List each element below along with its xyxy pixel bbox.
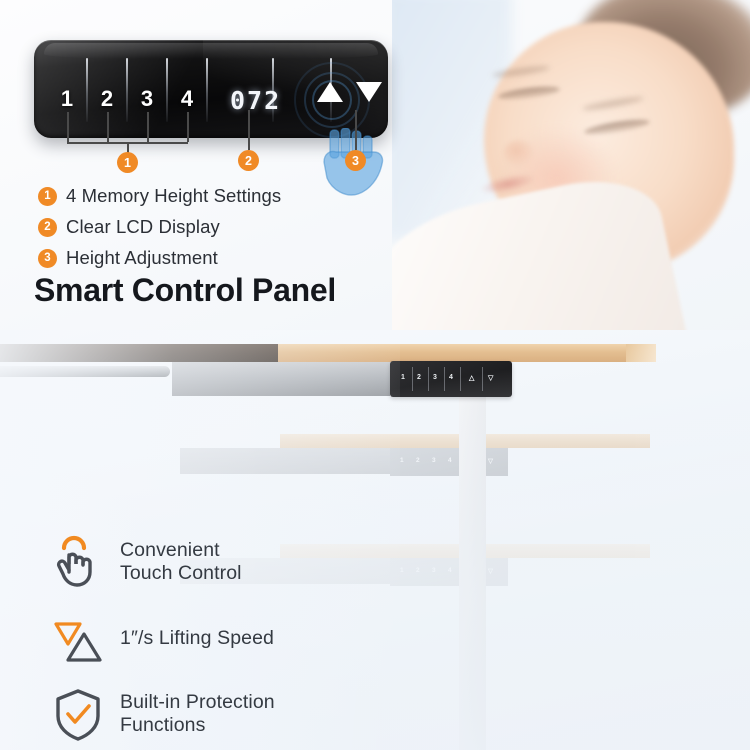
feature-line-1: 1″/s Lifting Speed [120,627,274,650]
ghost-desk-rail [180,448,390,474]
desk-memory-button-2[interactable]: 2 [417,374,421,381]
feature-row-touch-control: Convenient Touch Control [50,534,400,590]
leader-tick [147,112,149,142]
callout-legend-item: 1 4 Memory Height Settings [38,182,378,210]
panel-highlight [44,43,378,59]
memory-button-3[interactable]: 3 [134,88,160,110]
legend-label-3: Height Adjustment [66,247,218,269]
callout-badge-1: 1 [117,152,138,173]
legend-badge-1: 1 [38,187,57,206]
baby-nose [504,140,534,166]
leader-stem [355,110,357,150]
product-infographic-page: 1 2 3 4 072 1 2 3 [0,0,750,750]
button-separator [482,367,483,391]
touch-hand-icon [50,534,106,590]
ghost-memory-1: 1 [400,567,404,574]
feature-line-2: Functions [120,714,275,737]
desk-memory-button-1[interactable]: 1 [401,374,405,381]
callout-legend-list: 1 4 Memory Height Settings 2 Clear LCD D… [38,182,378,275]
bottom-feature-list: Convenient Touch Control 1″/s Lifting Sp… [50,534,400,750]
desk-down-arrow-icon[interactable]: ▽ [488,374,493,382]
leader-tick [187,112,189,142]
desk-cross-bar [0,366,170,377]
ghost-memory-2: 2 [416,567,420,574]
ghost-memory-3: 3 [432,567,436,574]
lcd-display-value: 072 [230,86,281,115]
desk-top-dark-surface [0,344,282,362]
feature-line-1: Convenient [120,539,242,562]
desk-up-arrow-icon[interactable]: △ [469,374,474,382]
legend-label-2: Clear LCD Display [66,216,220,238]
ghost-memory-2: 2 [416,457,420,464]
leader-tick [67,112,69,142]
height-down-arrow-icon[interactable] [356,82,382,102]
button-separator [206,58,208,122]
memory-button-1[interactable]: 1 [54,88,80,110]
ghost-control-panel: 1 2 3 4 ▽ [390,558,508,586]
control-panel-hero: 1 2 3 4 072 [34,40,388,138]
desk-leg [459,396,486,750]
feature-line-2: Touch Control [120,562,242,585]
leader-tick [107,112,109,142]
ghost-down-arrow-icon: ▽ [488,457,493,465]
callout-legend-item: 3 Height Adjustment [38,244,378,272]
page-title: Smart Control Panel [34,272,336,309]
button-separator [126,58,128,122]
memory-button-4[interactable]: 4 [174,88,200,110]
ghost-memory-3: 3 [432,457,436,464]
feature-label-lifting-speed: 1″/s Lifting Speed [120,627,274,650]
button-separator [86,58,88,122]
legend-label-1: 4 Memory Height Settings [66,185,281,207]
memory-button-2[interactable]: 2 [94,88,120,110]
ghost-memory-4: 4 [448,457,452,464]
desk-mounted-control-panel[interactable]: 1 2 3 4 △ ▽ [390,361,512,397]
ghost-desk-position: 1 2 3 4 ▽ [0,434,750,474]
shield-check-icon [50,686,106,742]
callout-badge-3: 3 [345,150,366,171]
leader-stem [248,110,250,150]
button-separator [428,367,429,391]
feature-label-touch-control: Convenient Touch Control [120,539,242,585]
feature-label-protection: Built-in Protection Functions [120,691,275,737]
callout-badge-2: 2 [238,150,259,171]
desk-top-edge-highlight [626,344,656,362]
legend-badge-3: 3 [38,249,57,268]
lift-triangles-icon [50,610,106,666]
ghost-memory-4: 4 [448,567,452,574]
ghost-memory-1: 1 [400,457,404,464]
legend-badge-2: 2 [38,218,57,237]
button-separator [412,367,413,391]
feature-row-protection: Built-in Protection Functions [50,686,400,742]
height-up-arrow-icon[interactable] [317,82,343,102]
sleeping-baby-photo [392,0,750,340]
button-separator [166,58,168,122]
feature-row-lifting-speed: 1″/s Lifting Speed [50,610,400,666]
desk-memory-button-4[interactable]: 4 [449,374,453,381]
desk-frame-rail [172,362,390,396]
ghost-down-arrow-icon: ▽ [488,567,493,575]
ghost-control-panel: 1 2 3 4 ▽ [390,448,508,476]
button-separator [444,367,445,391]
button-separator [460,367,461,391]
desk-top-wood-surface [278,344,650,362]
desk-memory-button-3[interactable]: 3 [433,374,437,381]
callout-legend-item: 2 Clear LCD Display [38,213,378,241]
feature-line-1: Built-in Protection [120,691,275,714]
